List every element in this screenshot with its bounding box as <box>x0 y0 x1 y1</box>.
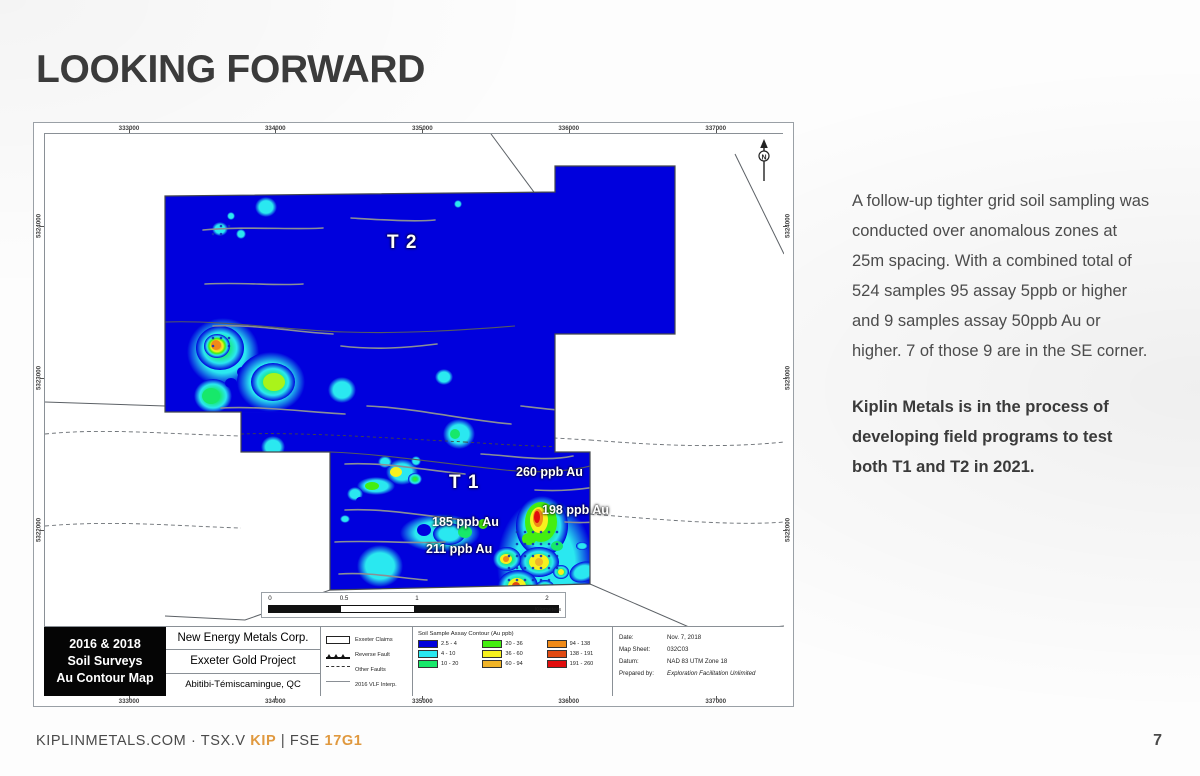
page-number: 7 <box>1153 732 1162 750</box>
footer-ticker-17g1: 17G1 <box>325 733 363 749</box>
legend-label: 2016 VLF Interp. <box>355 682 397 688</box>
assay-bin-color-chip <box>418 640 438 648</box>
slide-canvas: LOOKING FORWARD <box>0 0 1200 776</box>
assay-bin: 138 - 191 <box>547 650 607 658</box>
map-x-axis-top: 333000 334000 335000 336000 337000 <box>44 123 783 133</box>
assay-bin: 10 - 20 <box>418 660 478 668</box>
project-identity: New Energy Metals Corp. Exxeter Gold Pro… <box>166 627 321 696</box>
assay-bin-range-label: 10 - 20 <box>441 661 458 667</box>
solid-line-icon <box>326 681 350 689</box>
assay-bin: 20 - 36 <box>482 640 542 648</box>
claim-polygon-icon <box>326 636 350 644</box>
footer-ticker-kip: KIP <box>250 733 276 749</box>
north-arrow-icon: N <box>755 139 773 183</box>
assay-bin-range-label: 36 - 60 <box>505 651 522 657</box>
soil-contour-map-figure: T 2 T 1 260 ppb Au 198 ppb Au 185 ppb Au… <box>33 122 794 707</box>
assay-bin-range-label: 191 - 260 <box>570 661 594 667</box>
assay-bin: 4 - 10 <box>418 650 478 658</box>
assay-bin: 94 - 138 <box>547 640 607 648</box>
assay-bin-range-label: 4 - 10 <box>441 651 455 657</box>
assay-bin: 2.5 - 4 <box>418 640 478 648</box>
assay-bin-color-chip <box>482 660 502 668</box>
map-title-block: 2016 & 2018 Soil Surveys Au Contour Map … <box>44 626 783 696</box>
legend-item-vlf: 2016 VLF Interp. <box>326 681 408 689</box>
assay-bin-color-chip <box>418 650 438 658</box>
survey-title-line-2: Soil Surveys <box>67 653 142 670</box>
legend-item-claims: Exxeter Claims <box>326 636 408 644</box>
map-y-axis-right: 5324000 5323000 5322000 <box>783 133 793 696</box>
assay-bin: 36 - 60 <box>482 650 542 658</box>
legend-label: Reverse Fault <box>355 652 390 658</box>
assay-bin-range-label: 138 - 191 <box>570 651 594 657</box>
assay-bin: 60 - 94 <box>482 660 542 668</box>
assay-bin-range-label: 2.5 - 4 <box>441 641 457 647</box>
survey-title-line-1: 2016 & 2018 <box>69 636 141 653</box>
map-scale-bar: 0 0.5 1 2 Kilometers <box>261 592 566 618</box>
footer: KIPLINMETALS.COM · TSX.V KIP | FSE 17G1 <box>36 733 362 749</box>
metadata-row-datum: Datum: NAD 83 UTM Zone 18 <box>619 656 777 668</box>
company-name: New Energy Metals Corp. <box>166 627 320 650</box>
page-title: LOOKING FORWARD <box>36 48 425 92</box>
assay-bin-color-chip <box>482 650 502 658</box>
survey-title: 2016 & 2018 Soil Surveys Au Contour Map <box>44 627 166 696</box>
legend-item-other-faults: Other Faults <box>326 666 408 674</box>
assay-bin-color-chip <box>418 660 438 668</box>
project-location: Abitibi-Témiscamingue, QC <box>166 674 320 696</box>
legend-label: Other Faults <box>355 667 386 673</box>
map-y-axis-left: 5324000 5323000 5322000 <box>34 133 44 696</box>
assay-bin-color-chip <box>547 640 567 648</box>
survey-title-line-3: Au Contour Map <box>56 670 153 687</box>
legend-label: Exxeter Claims <box>355 637 393 643</box>
scale-bar-unit: Kilometers <box>535 607 561 613</box>
assay-bin-range-label: 94 - 138 <box>570 641 591 647</box>
assay-bin-color-chip <box>547 650 567 658</box>
map-metadata: Date: Nov. 7, 2018 Map Sheet: 032C03 Dat… <box>613 627 783 696</box>
dashed-line-icon <box>326 666 350 674</box>
assay-color-legend: Soil Sample Assay Contour (Au ppb) 2.5 -… <box>413 627 613 696</box>
metadata-row-date: Date: Nov. 7, 2018 <box>619 632 777 644</box>
metadata-row-prepared-by: Prepared by: Exploration Facilitation Un… <box>619 668 777 680</box>
map-symbol-legend: Exxeter Claims Reverse Fault Other Fault… <box>321 627 413 696</box>
assay-legend-bins: 2.5 - 420 - 3694 - 1384 - 1036 - 60138 -… <box>418 640 607 668</box>
assay-bin-range-label: 60 - 94 <box>505 661 522 667</box>
paragraph-1: A follow-up tighter grid soil sampling w… <box>852 186 1152 366</box>
map-x-axis-bottom: 333000 334000 335000 336000 337000 <box>44 696 783 706</box>
metadata-row-map-sheet: Map Sheet: 032C03 <box>619 644 777 656</box>
footer-website[interactable]: KIPLINMETALS.COM <box>36 733 186 749</box>
assay-bin-color-chip <box>547 660 567 668</box>
footer-separator-2: | FSE <box>276 733 324 749</box>
legend-item-reverse-fault: Reverse Fault <box>326 651 408 659</box>
svg-text:N: N <box>761 154 766 161</box>
assay-bin-color-chip <box>482 640 502 648</box>
assay-bin-range-label: 20 - 36 <box>505 641 522 647</box>
assay-legend-title: Soil Sample Assay Contour (Au ppb) <box>418 631 607 637</box>
footer-separator-1: · TSX.V <box>186 733 250 749</box>
reverse-fault-icon <box>326 651 350 659</box>
body-text-column: A follow-up tighter grid soil sampling w… <box>852 186 1152 482</box>
paragraph-2: Kiplin Metals is in the process of devel… <box>852 392 1152 482</box>
project-name: Exxeter Gold Project <box>166 650 320 673</box>
assay-bin: 191 - 260 <box>547 660 607 668</box>
